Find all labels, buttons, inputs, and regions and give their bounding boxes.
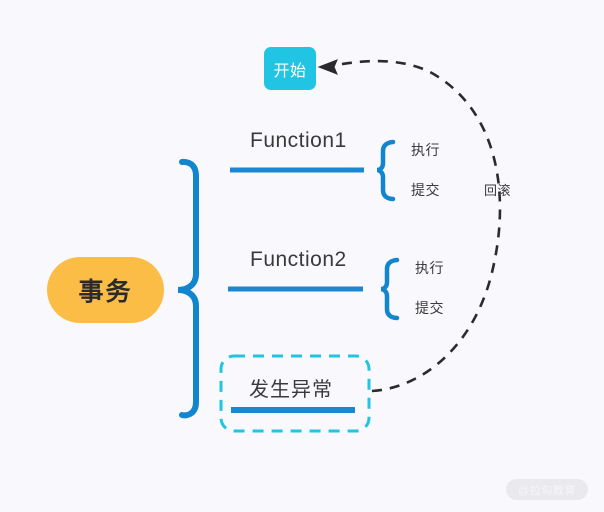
function1-step-execute: 执行 [411,140,440,160]
function1-steps-brace [377,142,393,199]
rollback-curve [332,61,500,391]
watermark-label: @拉勾教育 [518,482,576,498]
branch-label-function2[interactable]: Function2 [250,248,347,272]
node-start[interactable]: 开始 [264,47,316,90]
branch-label-exception[interactable]: 发生异常 [249,373,333,402]
node-start-label: 开始 [273,57,306,81]
function2-step-execute: 执行 [415,258,444,278]
watermark: @拉勾教育 [506,479,588,500]
function1-step-commit: 提交 [411,180,440,200]
root-brace [178,162,196,415]
node-transaction[interactable]: 事务 [47,257,164,323]
rollback-arrowhead [319,60,337,74]
branch-label-function1[interactable]: Function1 [250,129,347,153]
mindmap-canvas: 开始 事务 Function1 Function2 发生异常 执行 提交 执行 … [0,0,604,512]
function2-steps-brace [381,260,397,318]
function2-step-commit: 提交 [415,298,444,318]
node-transaction-label: 事务 [78,272,132,308]
rollback-edge-label: 回滚 [484,180,511,199]
